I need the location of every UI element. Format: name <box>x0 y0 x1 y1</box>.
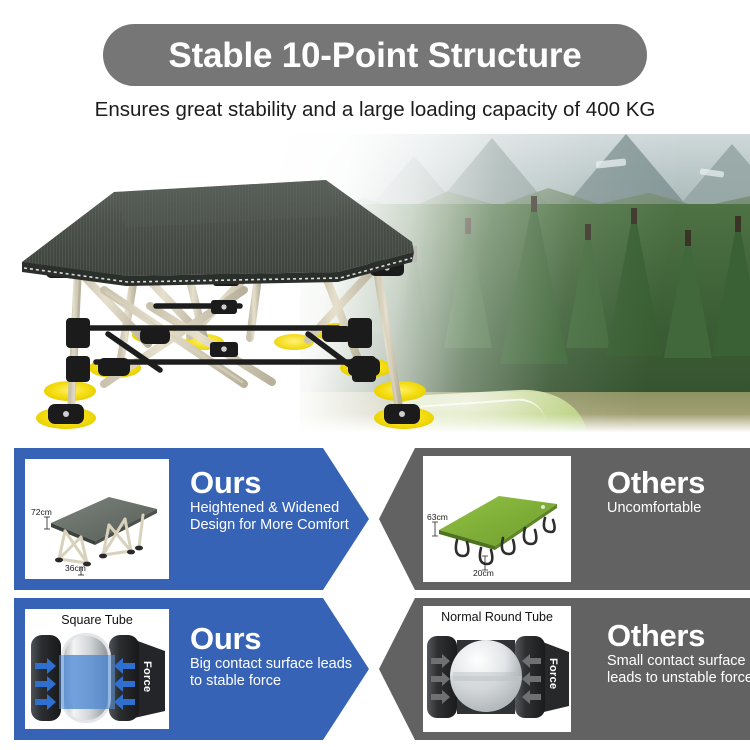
cot-mesh-bed <box>22 180 414 286</box>
others-description: Small contact surface leads to unstable … <box>607 653 750 688</box>
force-arrows-left <box>35 658 56 710</box>
dimension-label-length: 63cm <box>427 512 448 522</box>
ours-text-block-tube: Ours Big contact surface leads to stable… <box>190 623 360 691</box>
our-cot-image: 72cm 36cm <box>22 456 172 582</box>
ours-description: Big contact surface leads to stable forc… <box>190 656 360 691</box>
dimension-label-height: 36cm <box>65 563 86 573</box>
product-feature-page: Stable 10-Point Structure Ensures great … <box>0 0 750 750</box>
round-tube-caption: Normal Round Tube <box>423 610 571 624</box>
others-heading: Others <box>607 620 750 652</box>
comparison-row-tube: Square Tube <box>0 598 750 740</box>
header: Stable 10-Point Structure Ensures great … <box>0 0 750 136</box>
others-heading: Others <box>607 467 750 499</box>
camping-cot-illustration <box>8 146 428 438</box>
page-title: Stable 10-Point Structure <box>168 38 581 73</box>
force-arrows-right <box>114 658 135 710</box>
hero-banner <box>0 134 750 438</box>
others-text-block-tube: Others Small contact surface leads to un… <box>607 620 750 688</box>
dimension-label-length: 72cm <box>31 507 52 517</box>
ours-description: Heightened & Widened Design for More Com… <box>190 500 358 535</box>
others-panel-tube: Normal Round Tube <box>379 598 750 740</box>
square-tube-image: Square Tube <box>22 606 172 732</box>
force-arrows-left <box>431 654 450 704</box>
competitor-cot-image: 63cm 20cm <box>423 456 571 582</box>
dimension-label-height: 20cm <box>473 568 494 578</box>
force-arrows-right <box>522 654 541 704</box>
ours-heading: Ours <box>190 467 358 499</box>
others-description: Uncomfortable <box>607 500 750 518</box>
ours-text-block-comfort: Ours Heightened & Widened Design for Mor… <box>190 467 358 535</box>
comparison-row-comfort: 72cm 36cm Ours Heightened & Widened Desi… <box>0 448 750 590</box>
others-panel-comfort: 63cm 20cm Others Uncomfortable <box>379 448 750 590</box>
others-text-block-comfort: Others Uncomfortable <box>607 467 750 517</box>
ours-panel-comfort: 72cm 36cm Ours Heightened & Widened Desi… <box>14 448 369 590</box>
title-pill: Stable 10-Point Structure <box>103 24 647 86</box>
page-subtitle: Ensures great stability and a large load… <box>0 100 750 121</box>
ours-panel-tube: Square Tube <box>14 598 369 740</box>
force-label-round: Force <box>547 658 559 689</box>
force-label-square: Force <box>141 661 153 692</box>
ours-heading: Ours <box>190 623 360 655</box>
round-tube-image: Normal Round Tube <box>423 606 571 732</box>
